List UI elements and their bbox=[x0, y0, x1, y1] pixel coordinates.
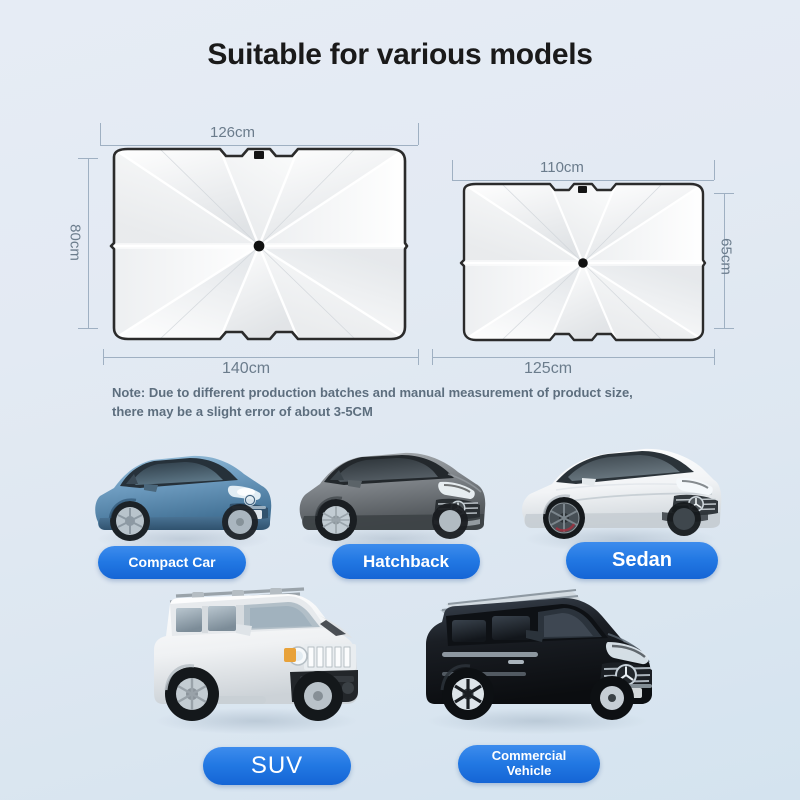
wheel-rear bbox=[432, 503, 468, 539]
vehicle-row-2 bbox=[0, 580, 800, 745]
offroad-suv-icon bbox=[140, 580, 375, 738]
shade-top-tab-icon bbox=[254, 151, 264, 159]
dimension-label-110cm: 110cm bbox=[540, 159, 584, 176]
tick-bottom-left-large bbox=[103, 349, 104, 365]
product-infographic-page: { "page": { "title": "Suitable for vario… bbox=[0, 0, 800, 800]
tick-bottom-right-small bbox=[714, 349, 715, 365]
tick-top-right-small bbox=[714, 160, 715, 180]
guide-line-top-small bbox=[452, 180, 714, 181]
dimension-label-126cm: 126cm bbox=[210, 124, 255, 141]
vehicle-button-suv[interactable]: SUV bbox=[203, 747, 351, 785]
commercial-van-icon bbox=[412, 580, 667, 738]
vehicle-card-commercial-vehicle bbox=[412, 580, 667, 740]
wheel-front bbox=[442, 668, 494, 720]
sedan-coupe-icon bbox=[512, 424, 727, 544]
vehicle-button-label: SUV bbox=[251, 753, 303, 780]
tick-bottom-right-large bbox=[418, 349, 419, 365]
dimension-label-80cm: 80cm bbox=[67, 220, 84, 266]
small-sunshade-graphic bbox=[452, 182, 714, 342]
shade-center-hub-icon bbox=[254, 241, 265, 252]
vehicle-button-commercial-vehicle[interactable]: Commercial Vehicle bbox=[458, 745, 600, 783]
vehicle-button-label: Hatchback bbox=[363, 552, 449, 571]
tick-left-top-large bbox=[78, 158, 98, 159]
wheel-front bbox=[165, 667, 219, 721]
large-sunshade-graphic bbox=[100, 147, 418, 342]
vehicle-button-hatchback[interactable]: Hatchback bbox=[332, 544, 480, 579]
hatchback-suv-icon bbox=[288, 430, 493, 545]
shade-center-hub-icon bbox=[578, 258, 588, 268]
wheel-rear bbox=[293, 671, 343, 721]
tick-top-left-small bbox=[452, 160, 453, 180]
guide-line-left-large bbox=[88, 158, 89, 328]
guide-line-top-large bbox=[100, 145, 418, 146]
dimension-label-140cm: 140cm bbox=[222, 360, 270, 378]
wheel-rear bbox=[590, 676, 634, 720]
compact-car-icon: Golf bbox=[80, 430, 280, 545]
tick-bottom-left-small bbox=[432, 349, 433, 365]
dimension-label-125cm: 125cm bbox=[524, 360, 572, 378]
tick-top-left-large bbox=[100, 123, 101, 145]
size-diagram: 126cm 80cm 140cm 110cm 65cm 125cm bbox=[0, 120, 800, 380]
measurement-note: Note: Due to different production batche… bbox=[112, 383, 672, 421]
shade-top-tab-icon bbox=[578, 186, 587, 193]
wheel-rear bbox=[667, 502, 701, 536]
vehicle-button-label: Sedan bbox=[612, 549, 672, 571]
vehicle-button-label: Compact Car bbox=[128, 555, 215, 571]
tick-left-bottom-large bbox=[78, 328, 98, 329]
tick-right-top-small bbox=[714, 193, 734, 194]
vehicle-button-label-line-1: Commercial bbox=[492, 749, 566, 764]
wheel-rear bbox=[222, 504, 258, 540]
tick-top-right-large bbox=[418, 123, 419, 145]
note-line-2: there may be a slight error of about 3-5… bbox=[112, 402, 672, 421]
vehicle-card-suv bbox=[140, 580, 375, 740]
guide-line-bottom-small bbox=[432, 357, 714, 358]
note-line-1: Note: Due to different production batche… bbox=[112, 383, 672, 402]
page-title: Suitable for various models bbox=[0, 38, 800, 72]
tick-right-bottom-small bbox=[714, 328, 734, 329]
dimension-label-65cm: 65cm bbox=[718, 234, 735, 280]
guide-line-bottom-large bbox=[103, 357, 418, 358]
vehicle-button-compact-car[interactable]: Compact Car bbox=[98, 546, 246, 579]
vehicle-button-label-line-2: Vehicle bbox=[507, 764, 552, 779]
vehicle-button-sedan[interactable]: Sedan bbox=[566, 542, 718, 579]
